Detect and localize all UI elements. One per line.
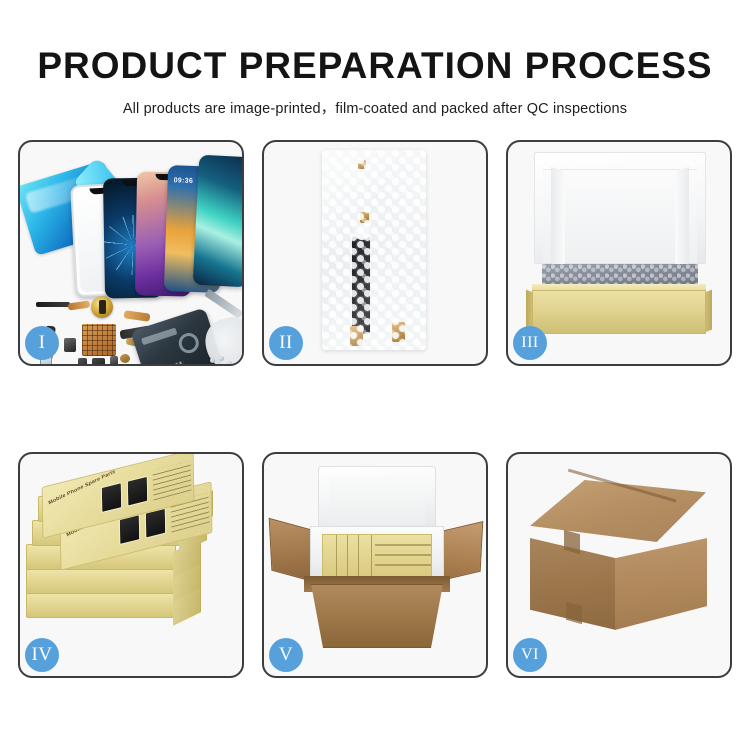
page-subtitle: All products are image-printed，film-coat… <box>0 84 750 118</box>
process-step-grid: 09:36 <box>18 140 732 678</box>
step-panel-sealed-carton[interactable]: VI <box>506 452 732 678</box>
step-badge-5: V <box>269 638 303 672</box>
housing-coil-ring <box>176 330 201 355</box>
step-panel-phone-parts-overview[interactable]: 09:36 <box>18 140 244 366</box>
phone-display-teal <box>193 155 242 288</box>
lid-left-fold <box>551 167 565 269</box>
flex-cable-part <box>68 301 91 311</box>
bubble-wrap-bag <box>322 150 426 350</box>
phone-status-time: 09:36 <box>174 177 194 185</box>
box-divider <box>358 535 360 577</box>
step-badge-6: VI <box>513 638 547 672</box>
step-badge-2: II <box>269 326 303 360</box>
carton-front-panel <box>302 584 452 648</box>
small-component-part <box>64 338 76 352</box>
product-preparation-infographic: PRODUCT PREPARATION PROCESS All products… <box>0 0 750 750</box>
inner-box-white-lid <box>534 152 706 264</box>
step-panel-foam-carton-packing[interactable]: V <box>262 452 488 678</box>
lid-right-fold <box>675 167 689 269</box>
box-phone-image <box>127 476 148 507</box>
carton-right-face <box>615 538 707 630</box>
stacked-box <box>26 568 176 594</box>
box-divider <box>375 564 431 566</box>
flex-cable-part <box>124 310 151 322</box>
plastic-sheen-layer <box>322 150 426 350</box>
housing-strip <box>141 327 177 345</box>
box-tray-front <box>532 290 706 334</box>
small-component-part <box>120 354 130 363</box>
small-component-part <box>92 358 105 364</box>
stacked-box <box>26 592 176 618</box>
carton-tape-mark <box>566 602 582 625</box>
box-divider <box>336 535 338 577</box>
step-badge-3: III <box>513 326 547 360</box>
small-component-part <box>110 356 118 364</box>
box-spec-lines <box>152 461 191 501</box>
page-title: PRODUCT PREPARATION PROCESS <box>0 0 750 84</box>
step-badge-1: I <box>25 326 59 360</box>
copper-mesh-pad-part <box>82 324 116 356</box>
box-stack: Mobile Phone Spare Parts Mobile Phone Sp… <box>26 472 236 662</box>
carton-top-face <box>530 480 706 542</box>
step-badge-4: IV <box>25 638 59 672</box>
step-panel-boxes-stacked[interactable]: Mobile Phone Spare Parts Mobile Phone Sp… <box>18 452 244 678</box>
screws-group <box>210 356 236 364</box>
chip-bar-part <box>36 302 70 307</box>
box-divider <box>375 544 431 546</box>
screw-icon <box>210 358 215 363</box>
box-phone-image <box>101 482 122 513</box>
box-divider <box>371 535 373 577</box>
screw-icon <box>219 356 224 361</box>
header: PRODUCT PREPARATION PROCESS All products… <box>0 0 750 118</box>
speaker-coil-part <box>91 296 113 318</box>
housing-label <box>153 361 185 364</box>
carton-tape-mark <box>564 530 580 555</box>
small-component-part <box>78 358 87 364</box>
cream-boxes-in-carton <box>322 534 432 578</box>
box-divider <box>347 535 349 577</box>
step-panel-inner-box-packing[interactable]: III <box>506 140 732 366</box>
step-panel-bubble-wrap-packing[interactable]: II <box>262 140 488 366</box>
screw-icon <box>227 361 232 364</box>
tweezers-tool-icon <box>204 289 242 319</box>
box-label-text: Mobile Phone Spare Parts <box>48 475 104 507</box>
box-divider <box>375 554 431 556</box>
foam-lid <box>318 466 436 532</box>
